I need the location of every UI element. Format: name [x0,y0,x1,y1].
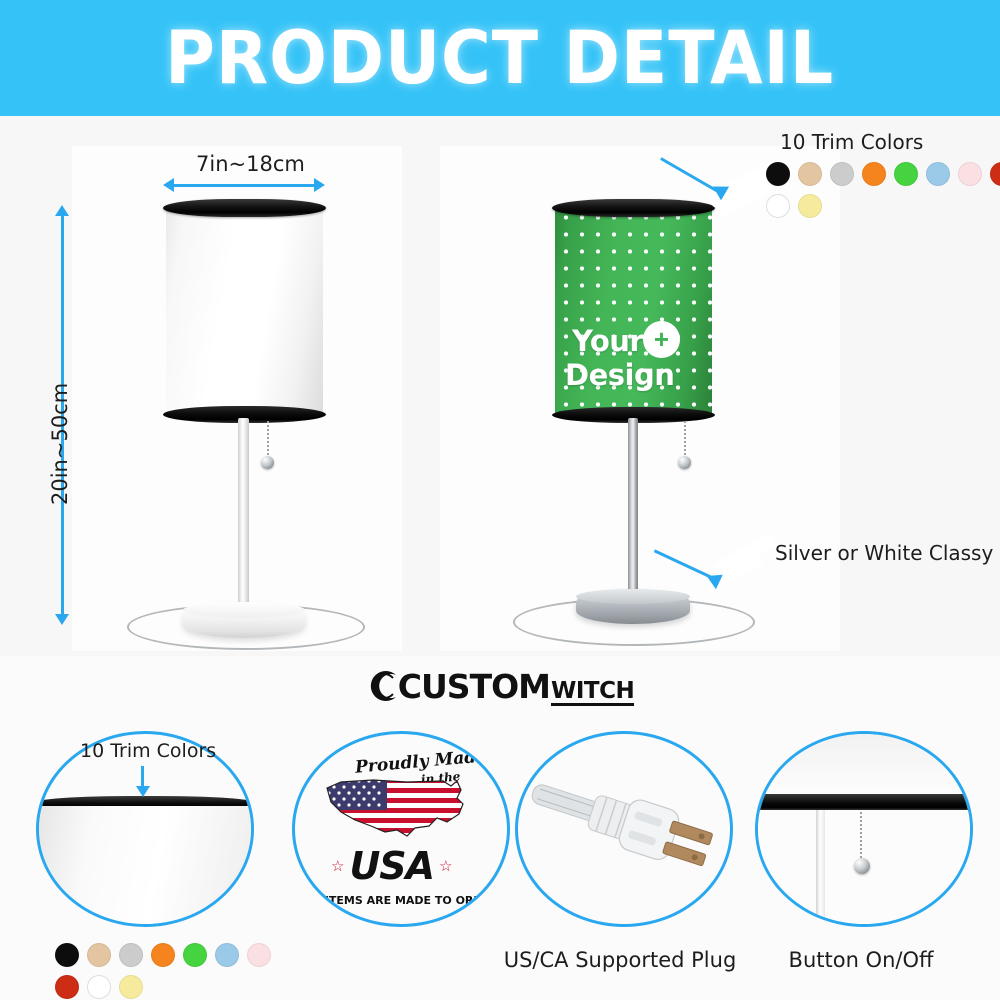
trim-colors-arrow-head [136,786,150,797]
switch-circle [755,731,973,927]
switch-caption: Button On/Off [741,948,981,972]
trim-swatch-pink[interactable] [958,162,982,186]
usa-star-left-icon: ☆ [331,857,344,875]
trim-swatch-gray[interactable] [119,943,143,967]
trim-swatch-black[interactable] [766,162,790,186]
trim-colors-label-top: 10 Trim Colors [780,130,923,154]
switch-pullchain [860,812,862,862]
power-plug-icon [518,734,730,924]
trim-swatch-black[interactable] [55,943,79,967]
green-shade-top-trim [552,199,715,217]
white-shade-top-trim [163,199,326,217]
green-lamp-pull-knob[interactable] [678,456,691,469]
logo-c-icon [366,669,400,703]
trim-colors-arrow-shaft [141,766,144,788]
trim-swatch-green[interactable] [183,943,207,967]
trim-swatch-red[interactable] [55,975,79,999]
switch-pull-knob[interactable] [854,858,870,874]
base-finish-label: Silver or White Classy [775,541,993,565]
trim-swatch-gray[interactable] [830,162,854,186]
trim-colors-label-bottom: 10 Trim Colors [80,740,216,762]
green-lamp-pullchain [684,421,686,460]
trim-swatch-yellow[interactable] [798,194,822,218]
header-banner: PRODUCT DETAIL [0,0,1000,116]
brand-logo: CUSTOM WITCH [0,664,1000,706]
height-measure-label: 20in~50cm [48,383,72,505]
white-lamp-pole [238,418,249,613]
plus-icon: + [643,321,680,358]
switch-pole [816,810,825,927]
usa-line-3: USA [349,844,434,888]
white-lamp-pullchain [267,421,269,460]
trim-swatch-red[interactable] [990,162,1000,186]
usa-map-flag-icon [311,768,491,848]
trim-swatch-white[interactable] [87,975,111,999]
usa-badge: Proudly Made in the [295,734,507,924]
width-measure-arrow [163,178,325,192]
trim-swatch-tan[interactable] [798,162,822,186]
product-detail-page: PRODUCT DETAIL 7in~18cm 20in~50cm [0,0,1000,1000]
trim-swatch-green[interactable] [894,162,918,186]
trim-swatch-light-blue[interactable] [215,943,239,967]
trim-swatch-orange[interactable] [151,943,175,967]
trim-swatches-top[interactable] [766,162,1000,218]
trim-swatch-white[interactable] [766,194,790,218]
white-lamp-base [183,602,305,638]
green-lamp-shade: Your + Design [555,205,712,417]
usa-line-4: ALL ITEMS ARE MADE TO ORDER! [298,894,503,907]
switch-shade-above [755,734,973,796]
made-in-usa-circle: Proudly Made in the [292,731,510,927]
page-title: PRODUCT DETAIL [166,16,835,101]
trim-sample-shade [36,806,254,927]
trim-swatch-orange[interactable] [862,162,886,186]
trim-swatch-yellow[interactable] [119,975,143,999]
trim-swatch-light-blue[interactable] [926,162,950,186]
white-shade-body [166,205,323,417]
trim-swatch-tan[interactable] [87,943,111,967]
white-lamp-shade [166,205,323,417]
green-lamp-pole [628,418,638,598]
usa-star-right-icon: ☆ [439,857,452,875]
switch-trim-band [755,794,973,810]
trim-swatch-pink[interactable] [247,943,271,967]
trim-swatches-bottom[interactable] [55,943,295,999]
plug-circle [515,731,733,927]
plug-caption: US/CA Supported Plug [500,948,740,972]
logo-main-text: CUSTOM [398,667,550,706]
logo-sub-text: WITCH [551,679,634,706]
green-shade-body: Your + Design [555,205,712,417]
white-lamp-pull-knob[interactable] [261,456,274,469]
shade-design-line-1: Your [572,327,643,356]
green-lamp-base [576,589,690,624]
width-measure-label: 7in~18cm [196,152,305,176]
shade-design-line-2: Design [565,361,674,390]
